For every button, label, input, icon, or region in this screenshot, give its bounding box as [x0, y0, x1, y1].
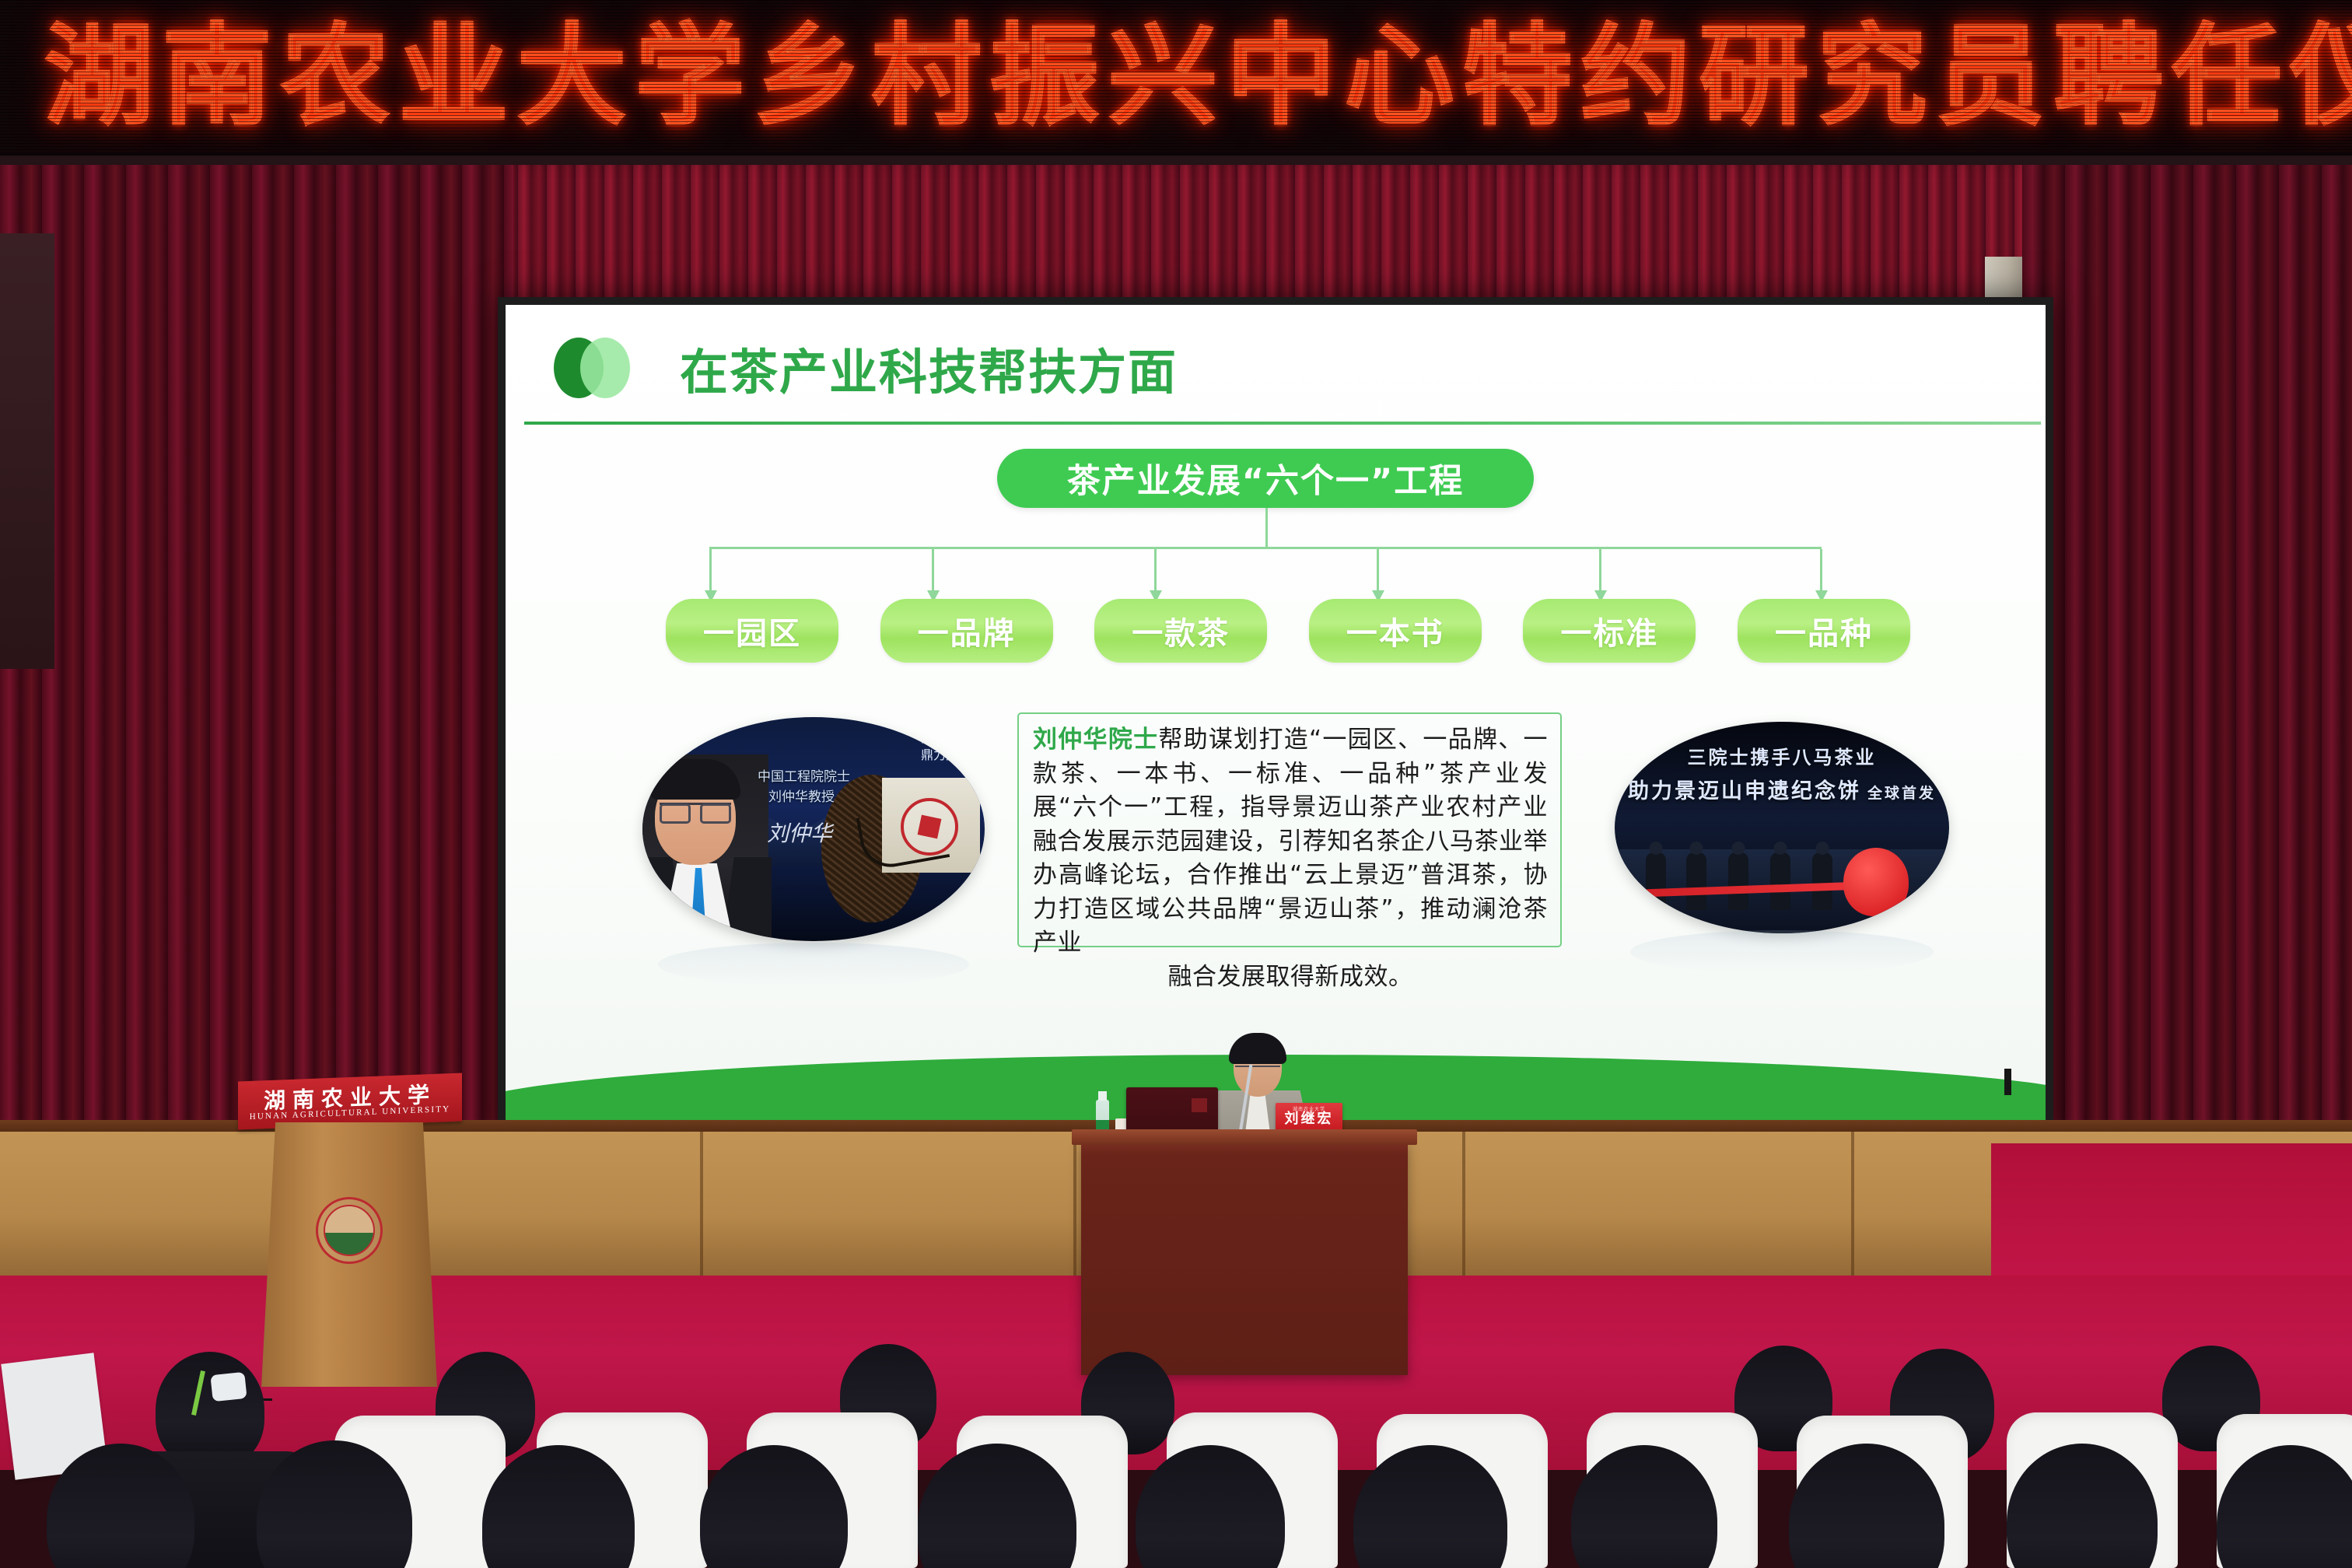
table-top	[1072, 1129, 1417, 1145]
photo-ceremony: 三院士携手八马茶业 助力景迈山申遗纪念饼全球首发	[1615, 722, 1949, 933]
audience	[0, 1322, 2352, 1568]
person-silhouette	[1686, 852, 1706, 910]
slide-header-divider	[524, 422, 2041, 425]
item-label: 一品牌	[918, 608, 1016, 653]
item-label: 一款茶	[1132, 608, 1230, 653]
slide-title: 在茶产业科技帮扶方面	[680, 333, 1178, 403]
photo-badge: 院士团队 鼎力支持	[921, 730, 971, 764]
photo-caption: 三院士携手八马茶业 助力景迈山申遗纪念饼全球首发	[1615, 742, 1949, 804]
projection-screen-frame: 在茶产业科技帮扶方面 茶产业发展“六个一”工程	[498, 297, 2053, 1139]
photo-reflection-right	[1630, 930, 1934, 974]
connector-stem	[1265, 508, 1268, 547]
photo-caption-line1: 三院士携手八马茶业	[1615, 742, 1949, 769]
auditorium-scene: 湖南农业大学乡村振兴中心特约研究员聘任仪式暨第十四期县委书记开班 在茶产业科技帮…	[0, 0, 2352, 1568]
badge-line2: 鼎力支持	[921, 747, 971, 764]
slide-banner-text: 茶产业发展“六个一”工程	[1067, 454, 1465, 502]
photo-reflection-left	[658, 943, 969, 986]
paragraph-body: 帮助谋划打造“一园区、一品牌、一款茶、一本书、一标准、一品种”茶产业发展“六个一…	[1033, 726, 1548, 957]
connector-drop	[709, 549, 712, 593]
item-label: 一品种	[1775, 608, 1873, 653]
list-item: 一品牌	[880, 599, 1053, 663]
slide-paragraph: 刘仲华院士帮助谋划打造“一园区、一品牌、一款茶、一本书、一标准、一品种”茶产业发…	[1017, 712, 1562, 947]
red-seal-icon	[901, 798, 958, 856]
lectern-header: 湖南农业大学 HUNAN AGRICULTURAL UNIVERSITY	[238, 1073, 462, 1129]
item-label: 一标准	[1560, 608, 1658, 653]
glasses-icon	[660, 803, 731, 818]
list-item: 一品种	[1738, 599, 1910, 663]
glasses-icon	[1235, 1066, 1280, 1076]
list-item: 一园区	[666, 599, 838, 663]
nameplate: 湖南农业大学 刘继宏	[1276, 1103, 1342, 1132]
wall-left-upper	[0, 233, 54, 669]
slide-content-row: 中国工程院院士 刘仲华教授 刘仲华 院士团队 鼎力支持 刘仲华院士帮助谋划打造“…	[526, 709, 2042, 1044]
connector-bar	[709, 547, 1822, 549]
hair	[650, 759, 740, 800]
connector-drop	[932, 549, 934, 593]
slide-header: 在茶产业科技帮扶方面	[554, 333, 1178, 403]
circle-light-green-icon	[580, 338, 630, 398]
paragraph-last-line: 融合发展取得新成效。	[1033, 961, 1548, 995]
red-flower-ball-icon	[1843, 848, 1909, 916]
connector-drop	[1377, 549, 1379, 593]
footer-mark	[2004, 1069, 2011, 1095]
photo-caption-line1: 中国工程院院士	[758, 765, 850, 785]
nameplate-title: 湖南农业大学	[1276, 1105, 1342, 1112]
photo-caption-suffix: 全球首发	[1867, 785, 1936, 802]
paragraph-highlight: 刘仲华院士	[1033, 726, 1158, 754]
photo-liu-zhonghua: 中国工程院院士 刘仲华教授 刘仲华 院士团队 鼎力支持	[642, 717, 985, 941]
laptop-logo-icon	[1192, 1098, 1207, 1112]
speaker-hair	[1229, 1033, 1286, 1064]
university-seal-icon	[316, 1197, 383, 1264]
led-banner-text: 湖南农业大学乡村振兴中心特约研究员聘任仪式暨第十四期县委书记开班	[44, 11, 2352, 143]
person-silhouette	[1728, 852, 1748, 910]
person-silhouette	[1812, 852, 1832, 910]
person-silhouette	[1770, 852, 1790, 910]
stage-curtain-right	[2022, 165, 2352, 1277]
stage-floor-right	[1991, 1143, 2352, 1291]
connector-drop	[1599, 549, 1601, 593]
connector-drop	[1154, 549, 1157, 593]
person-silhouette	[1646, 852, 1666, 910]
photo-caption-line2: 刘仲华教授	[768, 786, 835, 805]
presentation-slide: 在茶产业科技帮扶方面 茶产业发展“六个一”工程	[506, 305, 2046, 1131]
item-label: 一园区	[703, 608, 801, 653]
slide-banner-pill: 茶产业发展“六个一”工程	[997, 449, 1534, 508]
suit-right	[723, 857, 772, 938]
photo-caption-line2: 助力景迈山申遗纪念饼	[1628, 779, 1861, 803]
connector-drop	[1820, 549, 1822, 593]
six-ones-list: 一园区 一品牌 一款茶 一本书 一标准 一品种	[666, 599, 1910, 663]
badge-line1: 院士团队	[921, 730, 971, 747]
list-item: 一款茶	[1094, 599, 1267, 663]
signature-text: 刘仲华	[767, 817, 832, 848]
list-item: 一标准	[1523, 599, 1696, 663]
list-item: 一本书	[1309, 599, 1482, 663]
led-banner: 湖南农业大学乡村振兴中心特约研究员聘任仪式暨第十四期县委书记开班	[0, 0, 2352, 156]
item-label: 一本书	[1346, 608, 1444, 653]
connector-tree	[661, 508, 1906, 603]
portrait-graphic	[642, 754, 768, 938]
face-mask	[210, 1372, 247, 1402]
